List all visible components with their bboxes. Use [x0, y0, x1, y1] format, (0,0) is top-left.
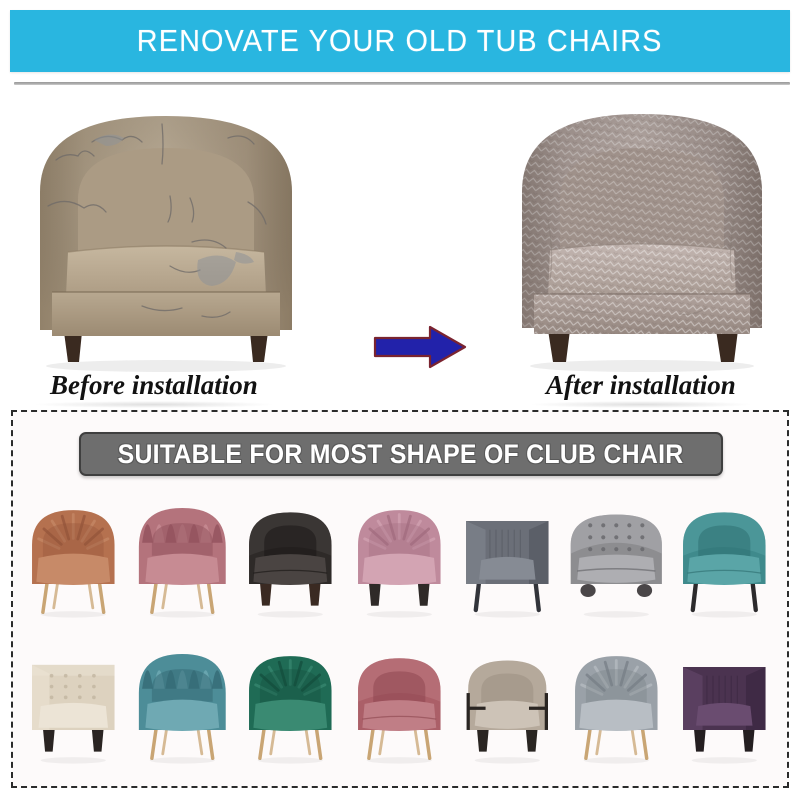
teal-velvet-accent-chair-icon — [670, 486, 779, 632]
chair-thumbnail — [562, 632, 671, 778]
before-chair-image — [22, 100, 342, 375]
suitable-panel: SUITABLE FOR MOST SHAPE OF CLUB CHAIR — [11, 410, 789, 788]
chair-thumbnail — [562, 486, 671, 632]
suitable-banner: SUITABLE FOR MOST SHAPE OF CLUB CHAIR — [79, 432, 723, 476]
taupe-leather-frame-chair-icon — [453, 632, 562, 778]
rose-velvet-tub-chair-icon — [345, 632, 454, 778]
chair-thumbnail — [236, 486, 345, 632]
page-title: RENOVATE YOUR OLD TUB CHAIRS — [137, 23, 663, 59]
gray-velvet-club-chair-icon — [453, 486, 562, 632]
worn-tub-chair-icon — [22, 100, 342, 375]
after-caption: After installation — [546, 370, 736, 401]
dark-green-channel-chair-icon — [236, 632, 345, 778]
rust-channel-tufted-armchair-icon — [19, 486, 128, 632]
chair-style-grid — [19, 486, 779, 778]
right-arrow-icon — [372, 324, 468, 370]
chair-thumbnail — [670, 486, 779, 632]
chair-thumbnail — [345, 632, 454, 778]
cream-tufted-club-chair-icon — [19, 632, 128, 778]
before-after-section: Before installation — [0, 92, 800, 402]
silver-tufted-chesterfield-icon — [562, 486, 671, 632]
chair-thumbnail — [128, 486, 237, 632]
slipcovered-tub-chair-icon — [508, 100, 790, 375]
pink-channel-tub-chair-icon — [345, 486, 454, 632]
chair-thumbnail — [345, 486, 454, 632]
before-caption: Before installation — [50, 370, 258, 401]
purple-velvet-tub-chair-icon — [670, 632, 779, 778]
chair-thumbnail — [19, 486, 128, 632]
chair-thumbnail — [128, 632, 237, 778]
dusty-rose-shell-armchair-icon — [128, 486, 237, 632]
light-gray-channel-chair-icon — [562, 632, 671, 778]
transition-arrow — [372, 324, 468, 370]
header-banner: RENOVATE YOUR OLD TUB CHAIRS — [10, 10, 790, 72]
suitable-banner-label: SUITABLE FOR MOST SHAPE OF CLUB CHAIR — [118, 439, 684, 470]
chair-thumbnail — [19, 632, 128, 778]
teal-blue-shell-chair-icon — [128, 632, 237, 778]
header-divider — [14, 82, 790, 85]
black-leather-tub-chair-icon — [236, 486, 345, 632]
after-chair-image — [508, 100, 790, 375]
chair-thumbnail — [670, 632, 779, 778]
infographic-page: RENOVATE YOUR OLD TUB CHAIRS — [0, 0, 800, 800]
chair-thumbnail — [453, 632, 562, 778]
chair-thumbnail — [453, 486, 562, 632]
chair-thumbnail — [236, 632, 345, 778]
